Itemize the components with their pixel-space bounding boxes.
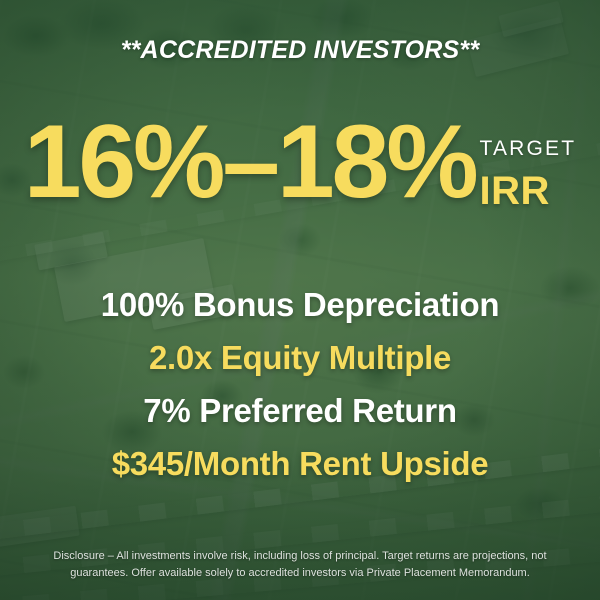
eyebrow-accredited-investors: **ACCREDITED INVESTORS** [0, 36, 600, 65]
irr-label-stack: TARGET IRR [479, 122, 576, 211]
list-item: 7% Preferred Return [143, 394, 456, 427]
list-item: $345/Month Rent Upside [112, 447, 489, 480]
list-item: 2.0x Equity Multiple [149, 341, 451, 374]
headline-row: 16%–18% TARGET IRR [0, 122, 600, 211]
card-content: **ACCREDITED INVESTORS** 16%–18% TARGET … [0, 0, 600, 600]
highlight-list: 100% Bonus Depreciation 2.0x Equity Mult… [0, 288, 600, 480]
investor-offer-card: **ACCREDITED INVESTORS** 16%–18% TARGET … [0, 0, 600, 600]
irr-label: IRR [479, 171, 549, 211]
target-irr-range: 16%–18% [24, 122, 476, 203]
list-item: 100% Bonus Depreciation [101, 288, 499, 321]
disclosure-text: Disclosure – All investments involve ris… [38, 548, 562, 582]
target-label: TARGET [479, 138, 576, 159]
